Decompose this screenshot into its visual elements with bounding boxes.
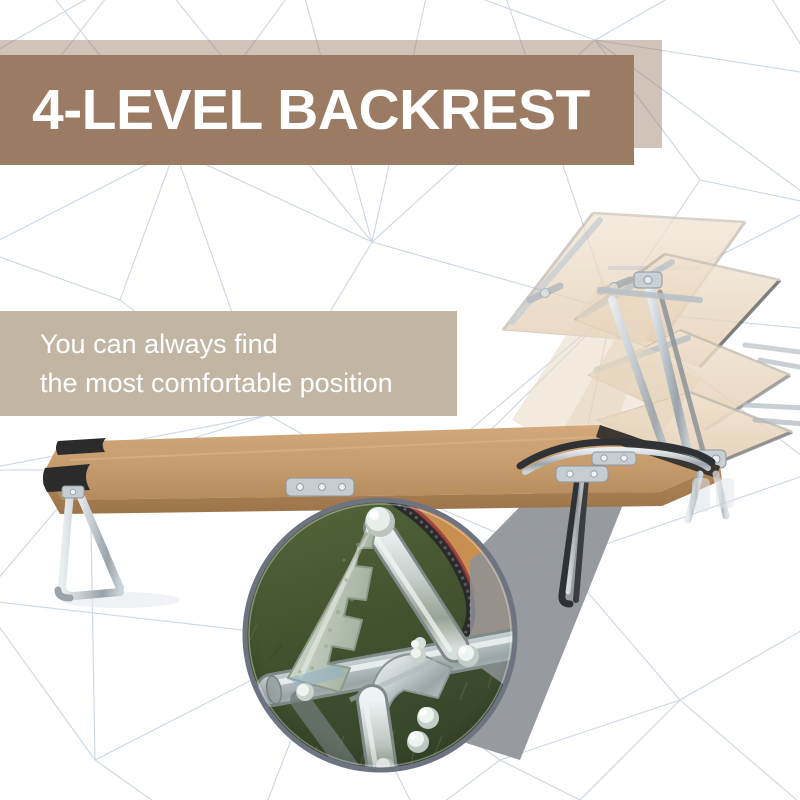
subtitle-line-2: the most comfortable position (40, 364, 457, 402)
subtitle-band: You can always find the most comfortable… (0, 311, 457, 416)
subtitle-line-1: You can always find (40, 325, 457, 363)
marketing-graphic: 4-LEVEL BACKREST You can always find the… (0, 0, 800, 800)
title-banner: 4-LEVEL BACKREST (0, 55, 634, 165)
page-title: 4-LEVEL BACKREST (32, 82, 590, 139)
